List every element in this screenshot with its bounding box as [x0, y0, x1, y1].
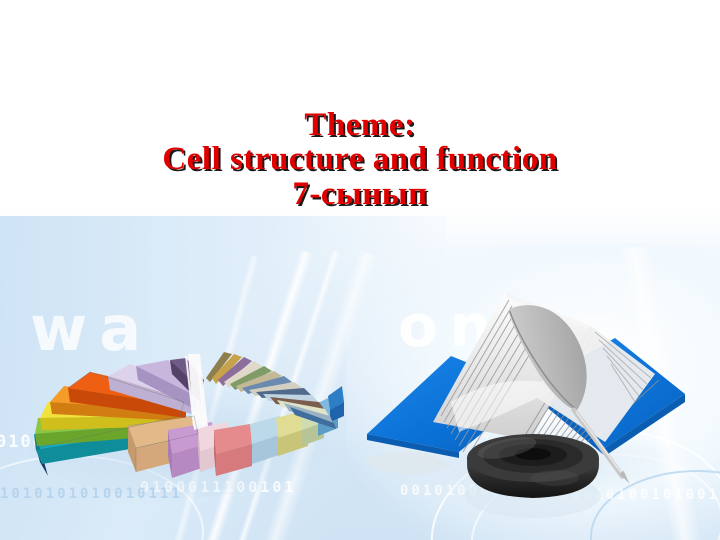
- title-grade: 7-сынып: [0, 177, 720, 211]
- exploded-pie-books-graphic: [18, 330, 348, 510]
- presentation-slide: wa on 01001 0100011100101 0010101 001010…: [0, 0, 720, 540]
- title-theme-label: Theme:: [0, 108, 720, 142]
- slide-title-block: Theme: Cell structure and function 7-сын…: [0, 108, 720, 211]
- title-topic: Cell structure and function: [0, 142, 720, 176]
- book-and-quill-graphic: [355, 282, 705, 522]
